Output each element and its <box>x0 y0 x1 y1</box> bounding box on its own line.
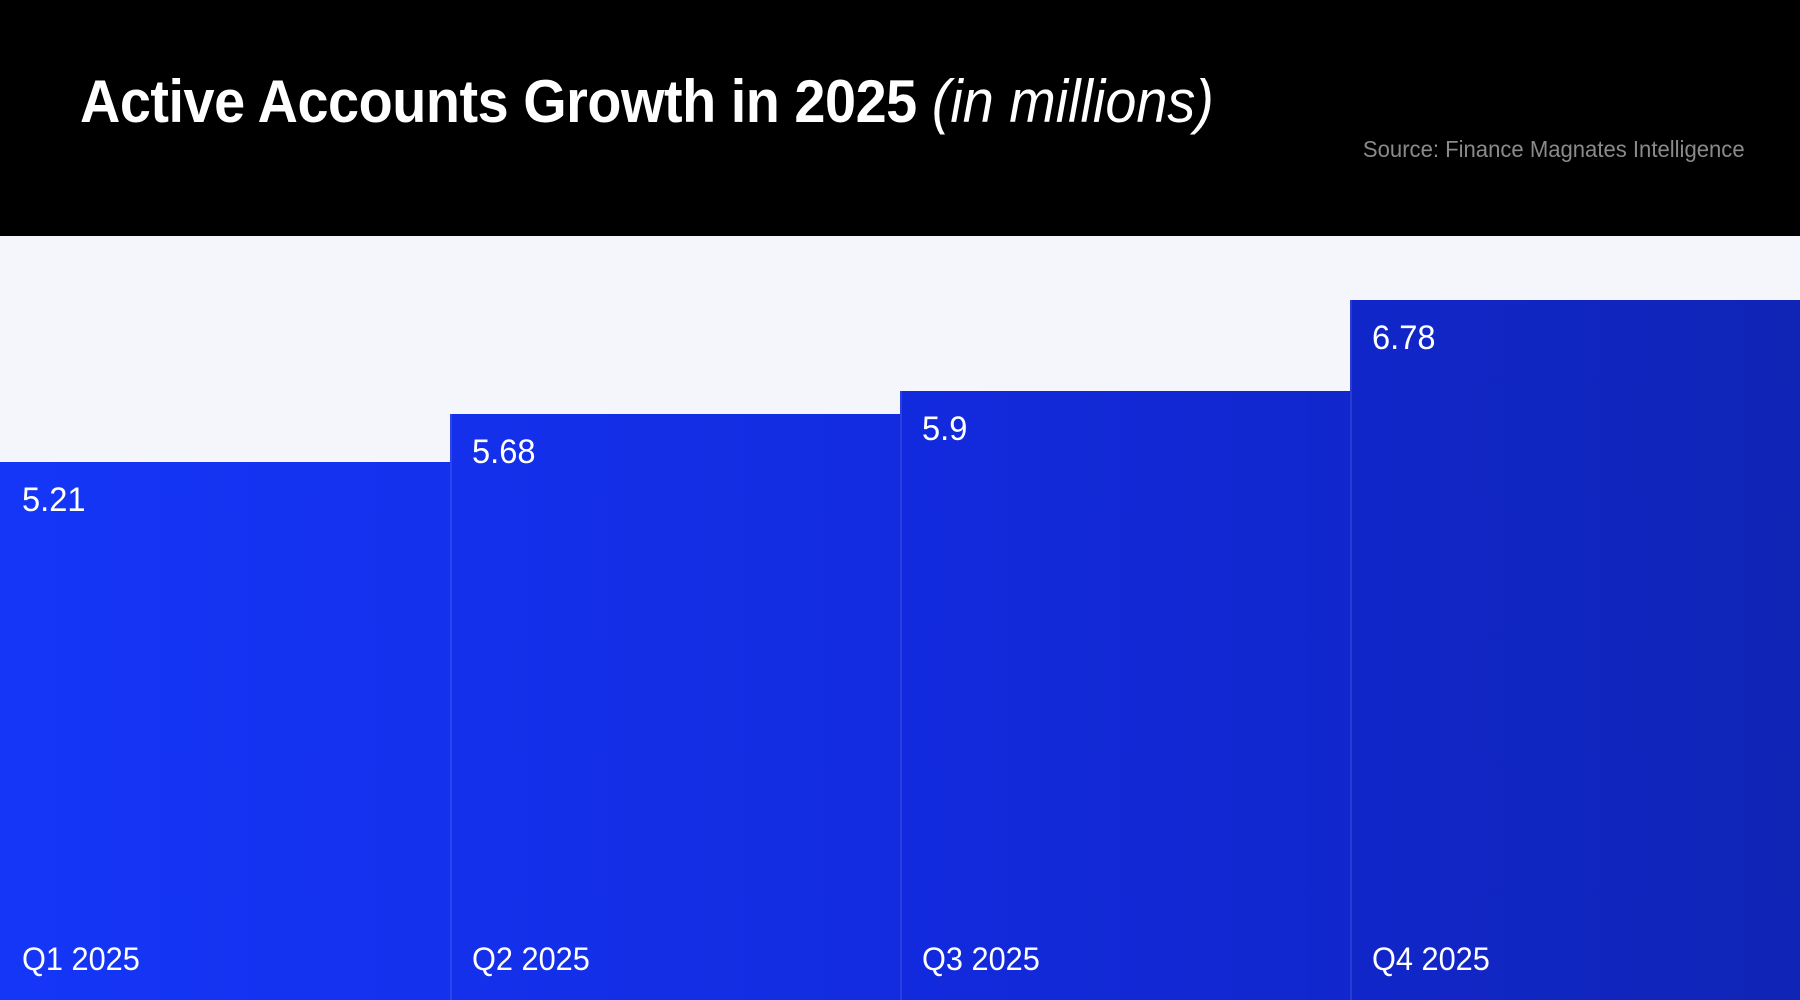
bar-category-label: Q1 2025 <box>22 940 140 978</box>
bar-value-label: 5.68 <box>472 432 536 472</box>
bar-value-label: 5.21 <box>22 480 86 520</box>
page-title-units: (in millions) <box>932 68 1214 135</box>
page-title-main: Active Accounts Growth in 2025 <box>80 68 917 135</box>
bar-column: 5.68 Q2 2025 <box>450 236 900 1000</box>
bar-column: 6.78 Q4 2025 <box>1350 236 1800 1000</box>
source-attribution: Source: Finance Magnates Intelligence <box>1363 134 1745 164</box>
bar-q3-2025[interactable]: 5.9 Q3 2025 <box>900 391 1350 1000</box>
bar-series: 5.21 Q1 2025 5.68 Q2 2025 5.9 Q3 2025 6.… <box>0 236 1800 1000</box>
chart-plot-area: 5.21 Q1 2025 5.68 Q2 2025 5.9 Q3 2025 6.… <box>0 236 1800 1000</box>
infographic-chart: Active Accounts Growth in 2025 (in milli… <box>0 0 1800 1000</box>
bar-column: 5.21 Q1 2025 <box>0 236 450 1000</box>
bar-value-label: 5.9 <box>922 409 967 449</box>
bar-q1-2025[interactable]: 5.21 Q1 2025 <box>0 462 450 1000</box>
bar-column: 5.9 Q3 2025 <box>900 236 1350 1000</box>
bar-category-label: Q2 2025 <box>472 940 590 978</box>
chart-header: Active Accounts Growth in 2025 (in milli… <box>0 0 1800 236</box>
page-title: Active Accounts Growth in 2025 (in milli… <box>80 63 1214 141</box>
bar-q2-2025[interactable]: 5.68 Q2 2025 <box>450 414 900 1000</box>
bar-category-label: Q4 2025 <box>1372 940 1490 978</box>
bar-category-label: Q3 2025 <box>922 940 1040 978</box>
bar-q4-2025[interactable]: 6.78 Q4 2025 <box>1350 300 1800 1000</box>
bar-value-label: 6.78 <box>1372 318 1436 358</box>
